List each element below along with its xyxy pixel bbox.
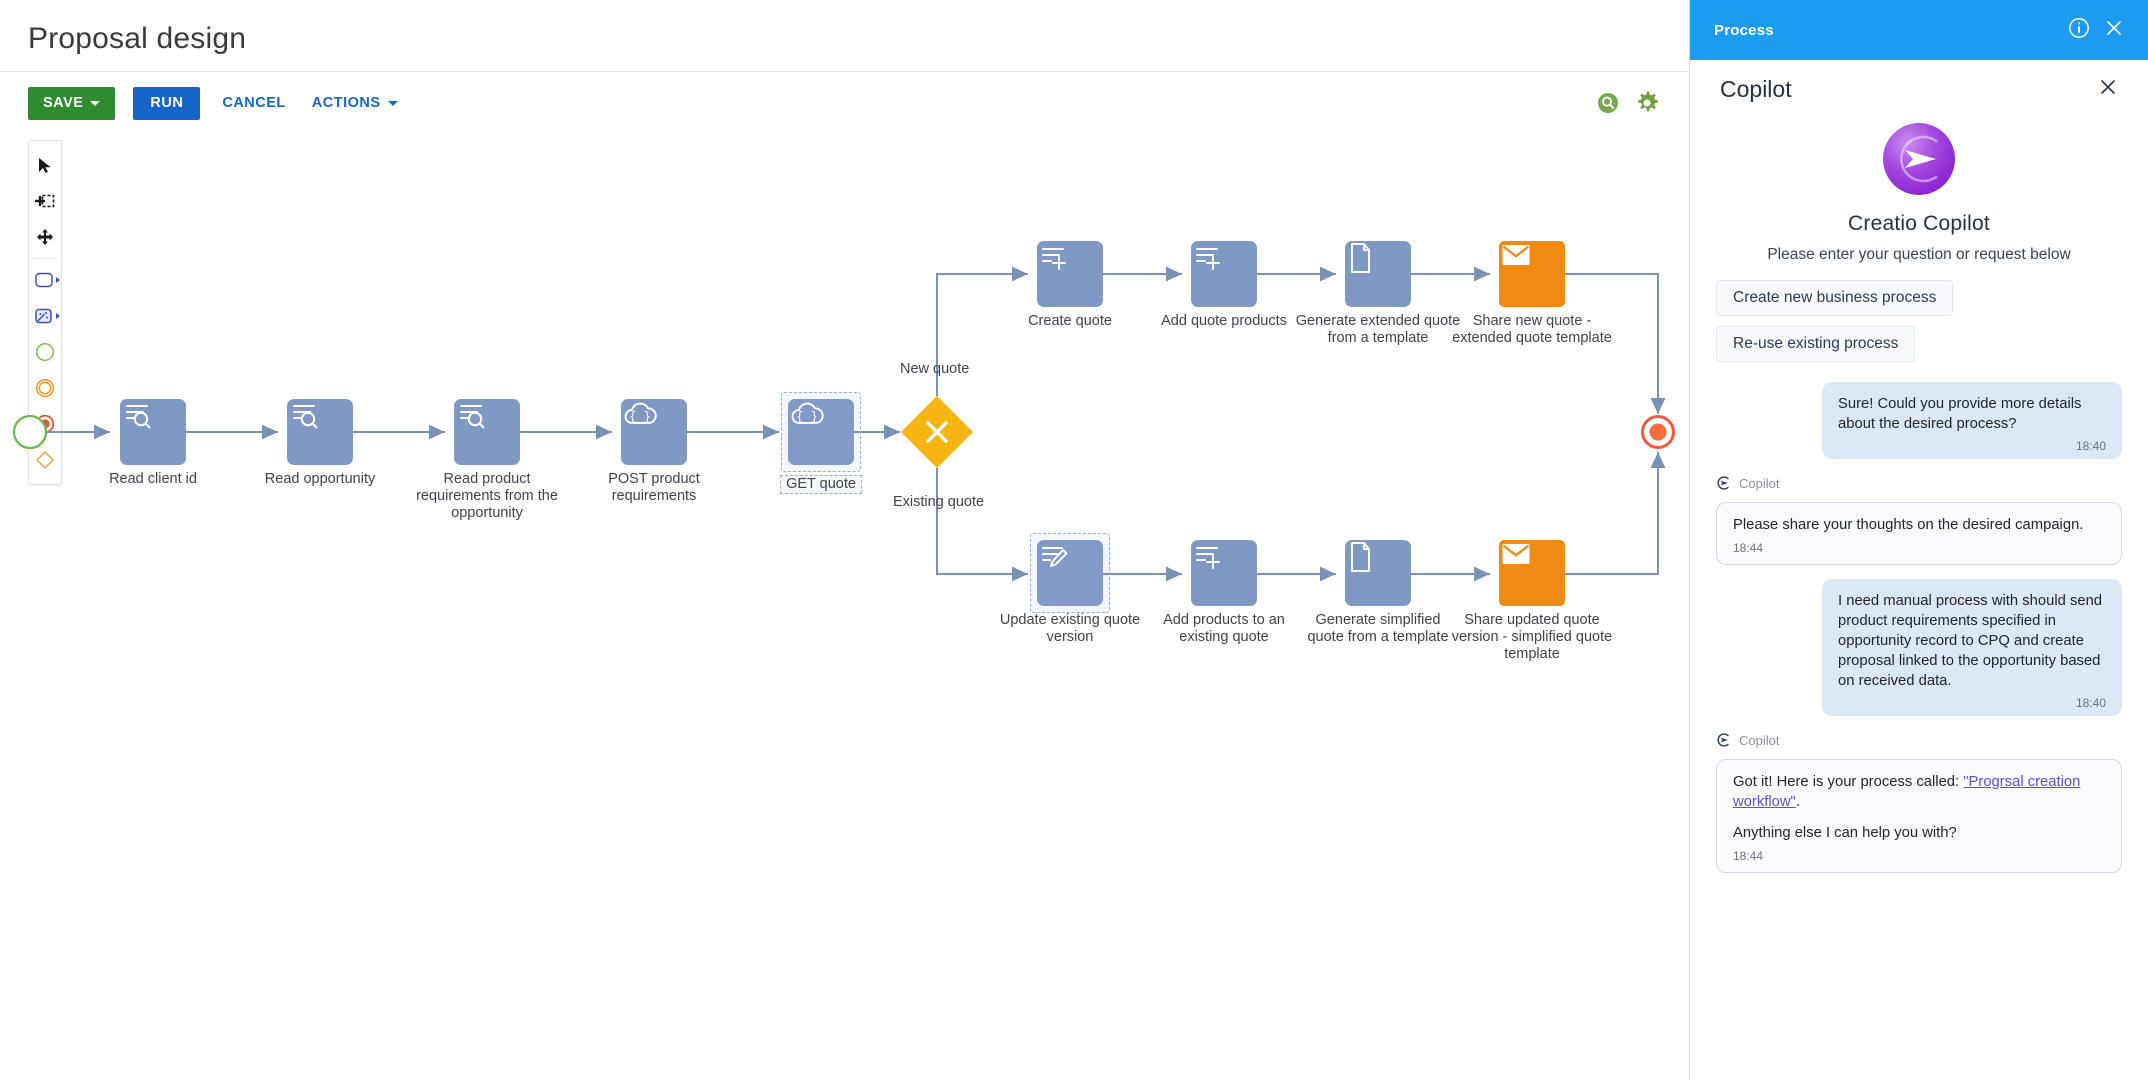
task-box[interactable]: { }: [621, 399, 687, 465]
email-task-box[interactable]: [1499, 540, 1565, 606]
app-root: Proposal design SAVE RUN CANCEL ACTIONS: [0, 0, 2148, 1080]
run-button[interactable]: RUN: [133, 87, 200, 120]
node-generate-simplified-quote[interactable]: Generate simplified quote from a templat…: [1345, 540, 1411, 606]
page-title: Proposal design: [28, 22, 1689, 56]
copilot-panel: Process Copilot: [1690, 0, 2148, 1080]
svg-text:{ }: { }: [796, 410, 818, 424]
node-read-product-requirements[interactable]: Read product requirements from the oppor…: [454, 399, 520, 465]
bot-sender: Copilot: [1716, 732, 2122, 748]
add-data-icon: [1037, 241, 1071, 273]
svg-text:{ }: { }: [629, 410, 651, 424]
node-read-client-id[interactable]: Read client id: [120, 399, 186, 465]
chat-message-user: I need manual process with should send p…: [1822, 579, 2122, 716]
node-label: Read client id: [71, 471, 236, 488]
flow-label-new-quote: New quote: [900, 361, 969, 377]
node-label: Read product requirements from the oppor…: [405, 471, 570, 522]
document-icon: [1345, 241, 1375, 275]
edit-data-icon: [1037, 540, 1071, 572]
chat-message-bot: Please share your thoughts on the desire…: [1716, 502, 2122, 565]
copilot-intro: Creatio Copilot Please enter your questi…: [1716, 118, 2122, 362]
process-designer: Proposal design SAVE RUN CANCEL ACTIONS: [0, 0, 1690, 1080]
node-create-quote[interactable]: Create quote: [1037, 241, 1103, 307]
task-box[interactable]: [454, 399, 520, 465]
message-text: Got it! Here is your process called: "Pr…: [1733, 772, 2105, 812]
document-icon: [1345, 540, 1375, 574]
copilot-avatar-icon: [1716, 732, 1732, 748]
node-label: Add quote products: [1142, 313, 1307, 330]
terminate-end-event: [1643, 417, 1674, 448]
flow-label-existing-quote: Existing quote: [893, 494, 984, 510]
node-label: Share updated quote version - simplified…: [1450, 612, 1615, 663]
message-text: I need manual process with should send p…: [1838, 591, 2106, 691]
search-icon[interactable]: [1597, 92, 1619, 114]
add-data-icon: [1191, 241, 1225, 273]
node-post-product-requirements[interactable]: { } POST product requirements: [621, 399, 687, 465]
bot-sender-label: Copilot: [1739, 733, 1779, 748]
node-label: Update existing quote version: [988, 612, 1153, 646]
chat-message-bot: Got it! Here is your process called: "Pr…: [1716, 759, 2122, 873]
panel-window-header: Process: [1690, 0, 2148, 60]
chip-reuse-existing-process[interactable]: Re-use existing process: [1716, 326, 1915, 362]
copilot-avatar-icon: [1716, 475, 1732, 491]
node-update-existing-quote-version[interactable]: Update existing quote version: [1037, 540, 1103, 606]
node-read-opportunity[interactable]: Read opportunity: [287, 399, 353, 465]
cancel-button-label: CANCEL: [222, 95, 285, 111]
node-label: POST product requirements: [572, 471, 737, 505]
node-share-updated-quote[interactable]: Share updated quote version - simplified…: [1499, 540, 1565, 606]
creatio-logo: [1716, 120, 2122, 198]
bot-sender: Copilot: [1716, 475, 2122, 491]
node-label: Create quote: [988, 313, 1153, 330]
save-button-label: SAVE: [43, 95, 83, 111]
node-label: GET quote: [780, 475, 862, 494]
start-event: [14, 416, 46, 448]
actions-button[interactable]: ACTIONS: [308, 87, 402, 120]
node-label: Add products to an existing quote: [1142, 612, 1307, 646]
toolbar: SAVE RUN CANCEL ACTIONS: [0, 72, 1689, 134]
task-box[interactable]: [1191, 241, 1257, 307]
web-service-icon: { }: [788, 399, 826, 429]
run-button-label: RUN: [150, 95, 183, 111]
task-box[interactable]: [120, 399, 186, 465]
node-add-quote-products[interactable]: Add quote products: [1191, 241, 1257, 307]
copilot-title: Copilot: [1720, 76, 1792, 103]
message-time: 18:44: [1733, 849, 2105, 863]
panel-window-actions: [2068, 17, 2124, 44]
read-data-icon: [454, 399, 488, 431]
toolbar-right-icons: [1597, 91, 1659, 115]
message-time: 18:40: [1838, 696, 2106, 710]
message-text: Please share your thoughts on the desire…: [1733, 515, 2105, 535]
copilot-close-icon[interactable]: [2098, 77, 2118, 102]
exclusive-gateway: [901, 396, 973, 468]
gear-icon[interactable]: [1635, 91, 1659, 115]
task-box[interactable]: [1345, 540, 1411, 606]
node-label: Generate simplified quote from a templat…: [1296, 612, 1461, 646]
task-box[interactable]: [1037, 241, 1103, 307]
node-share-new-quote[interactable]: Share new quote - extended quote templat…: [1499, 241, 1565, 307]
message-time: 18:40: [1838, 439, 2106, 453]
message-text-secondary: Anything else I can help you with?: [1733, 823, 2105, 843]
message-text-prefix: Got it! Here is your process called:: [1733, 774, 1963, 790]
actions-button-label: ACTIONS: [312, 95, 381, 111]
email-icon: [1499, 540, 1533, 568]
bot-sender-label: Copilot: [1739, 476, 1779, 491]
task-box[interactable]: [287, 399, 353, 465]
email-icon: [1499, 241, 1533, 269]
creatio-logo-icon: [1880, 120, 1958, 198]
node-label: Share new quote - extended quote templat…: [1450, 313, 1615, 347]
message-text: Sure! Could you provide more details abo…: [1838, 394, 2106, 434]
suggestion-chips: Create new business process Re-use exist…: [1716, 280, 2122, 362]
task-box[interactable]: [1191, 540, 1257, 606]
message-time: 18:44: [1733, 541, 2105, 555]
chip-create-new-business-process[interactable]: Create new business process: [1716, 280, 1953, 316]
copilot-body: Creatio Copilot Please enter your questi…: [1690, 118, 2148, 1080]
info-icon[interactable]: [2068, 17, 2090, 44]
node-label: Read opportunity: [238, 471, 403, 488]
chevron-down-icon: [388, 101, 398, 106]
process-canvas[interactable]: New quote Existing quote Read client id: [0, 134, 1690, 1080]
panel-window-title: Process: [1714, 22, 1774, 39]
node-add-products-existing-quote[interactable]: Add products to an existing quote: [1191, 540, 1257, 606]
connector-layer: [0, 134, 1690, 1080]
save-button[interactable]: SAVE: [28, 87, 115, 120]
title-bar: Proposal design: [0, 0, 1689, 72]
chat-message-user: Sure! Could you provide more details abo…: [1822, 382, 2122, 459]
brand-name: Creatio Copilot: [1716, 212, 2122, 236]
cancel-button[interactable]: CANCEL: [218, 87, 289, 120]
close-icon[interactable]: [2104, 18, 2124, 43]
chevron-down-icon: [90, 101, 100, 106]
node-label: Generate extended quote from a template: [1296, 313, 1461, 347]
email-task-box[interactable]: [1499, 241, 1565, 307]
intro-subtitle: Please enter your question or request be…: [1716, 246, 2122, 264]
chat-thread: Sure! Could you provide more details abo…: [1716, 382, 2122, 873]
add-data-icon: [1191, 540, 1225, 572]
task-box[interactable]: [1345, 241, 1411, 307]
node-get-quote[interactable]: { } GET quote: [788, 399, 854, 465]
copilot-header: Copilot: [1690, 60, 2148, 118]
message-text-suffix: .: [1796, 794, 1800, 810]
web-service-icon: { }: [621, 399, 659, 429]
node-generate-extended-quote[interactable]: Generate extended quote from a template: [1345, 241, 1411, 307]
read-data-icon: [287, 399, 321, 431]
read-data-icon: [120, 399, 154, 431]
